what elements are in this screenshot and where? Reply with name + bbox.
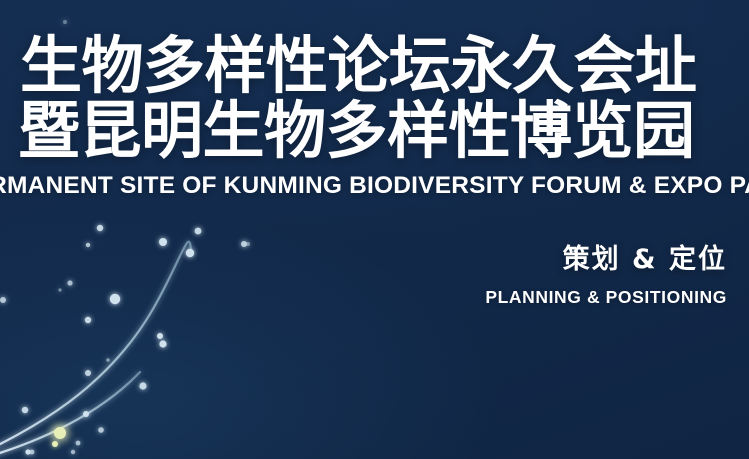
arc-group [0, 242, 191, 459]
star-dot [241, 241, 247, 247]
arc-outer [0, 242, 191, 459]
star-dot [58, 288, 61, 291]
title-line-2: 暨昆明生物多样性博览园 [18, 98, 695, 164]
star-dot [195, 228, 202, 235]
star-dot [97, 225, 103, 231]
section-label-english: PLANNING & POSITIONING [485, 287, 727, 308]
star-dot [98, 427, 104, 433]
arc-node [54, 427, 66, 439]
star-dot [246, 242, 250, 246]
star-dot [85, 317, 91, 323]
star-dot [85, 370, 91, 376]
star-dot [0, 297, 6, 303]
arc-node-group [25, 249, 194, 455]
arc-node [159, 340, 166, 347]
arc-node [157, 333, 163, 339]
arc-inner [0, 372, 140, 459]
poster-slide: 生物多样性论坛永久会址 暨昆明生物多样性博览园 PERMANENT SITE O… [0, 0, 749, 459]
star-dot [63, 20, 67, 24]
star-dot [67, 280, 72, 285]
star-dot [159, 238, 167, 246]
star-dot [86, 243, 90, 247]
star-dot [22, 407, 28, 413]
arc-node [83, 411, 89, 417]
star-dot [76, 441, 81, 446]
star-dot [110, 294, 120, 304]
star-dot [106, 358, 110, 362]
arc-node [25, 449, 30, 454]
section-label-chinese: 策划 & 定位 [485, 243, 727, 277]
arc-node [52, 441, 58, 447]
star-dot [30, 450, 35, 455]
subtitle-english: PERMANENT SITE OF KUNMING BIODIVERSITY F… [0, 172, 749, 200]
section-label-block: 策划 & 定位 PLANNING & POSITIONING [485, 243, 727, 308]
star-dot [139, 382, 146, 389]
star-dot [71, 450, 75, 454]
arc-node [186, 249, 194, 257]
title-line-1: 生物多样性论坛永久会址 [20, 33, 697, 99]
